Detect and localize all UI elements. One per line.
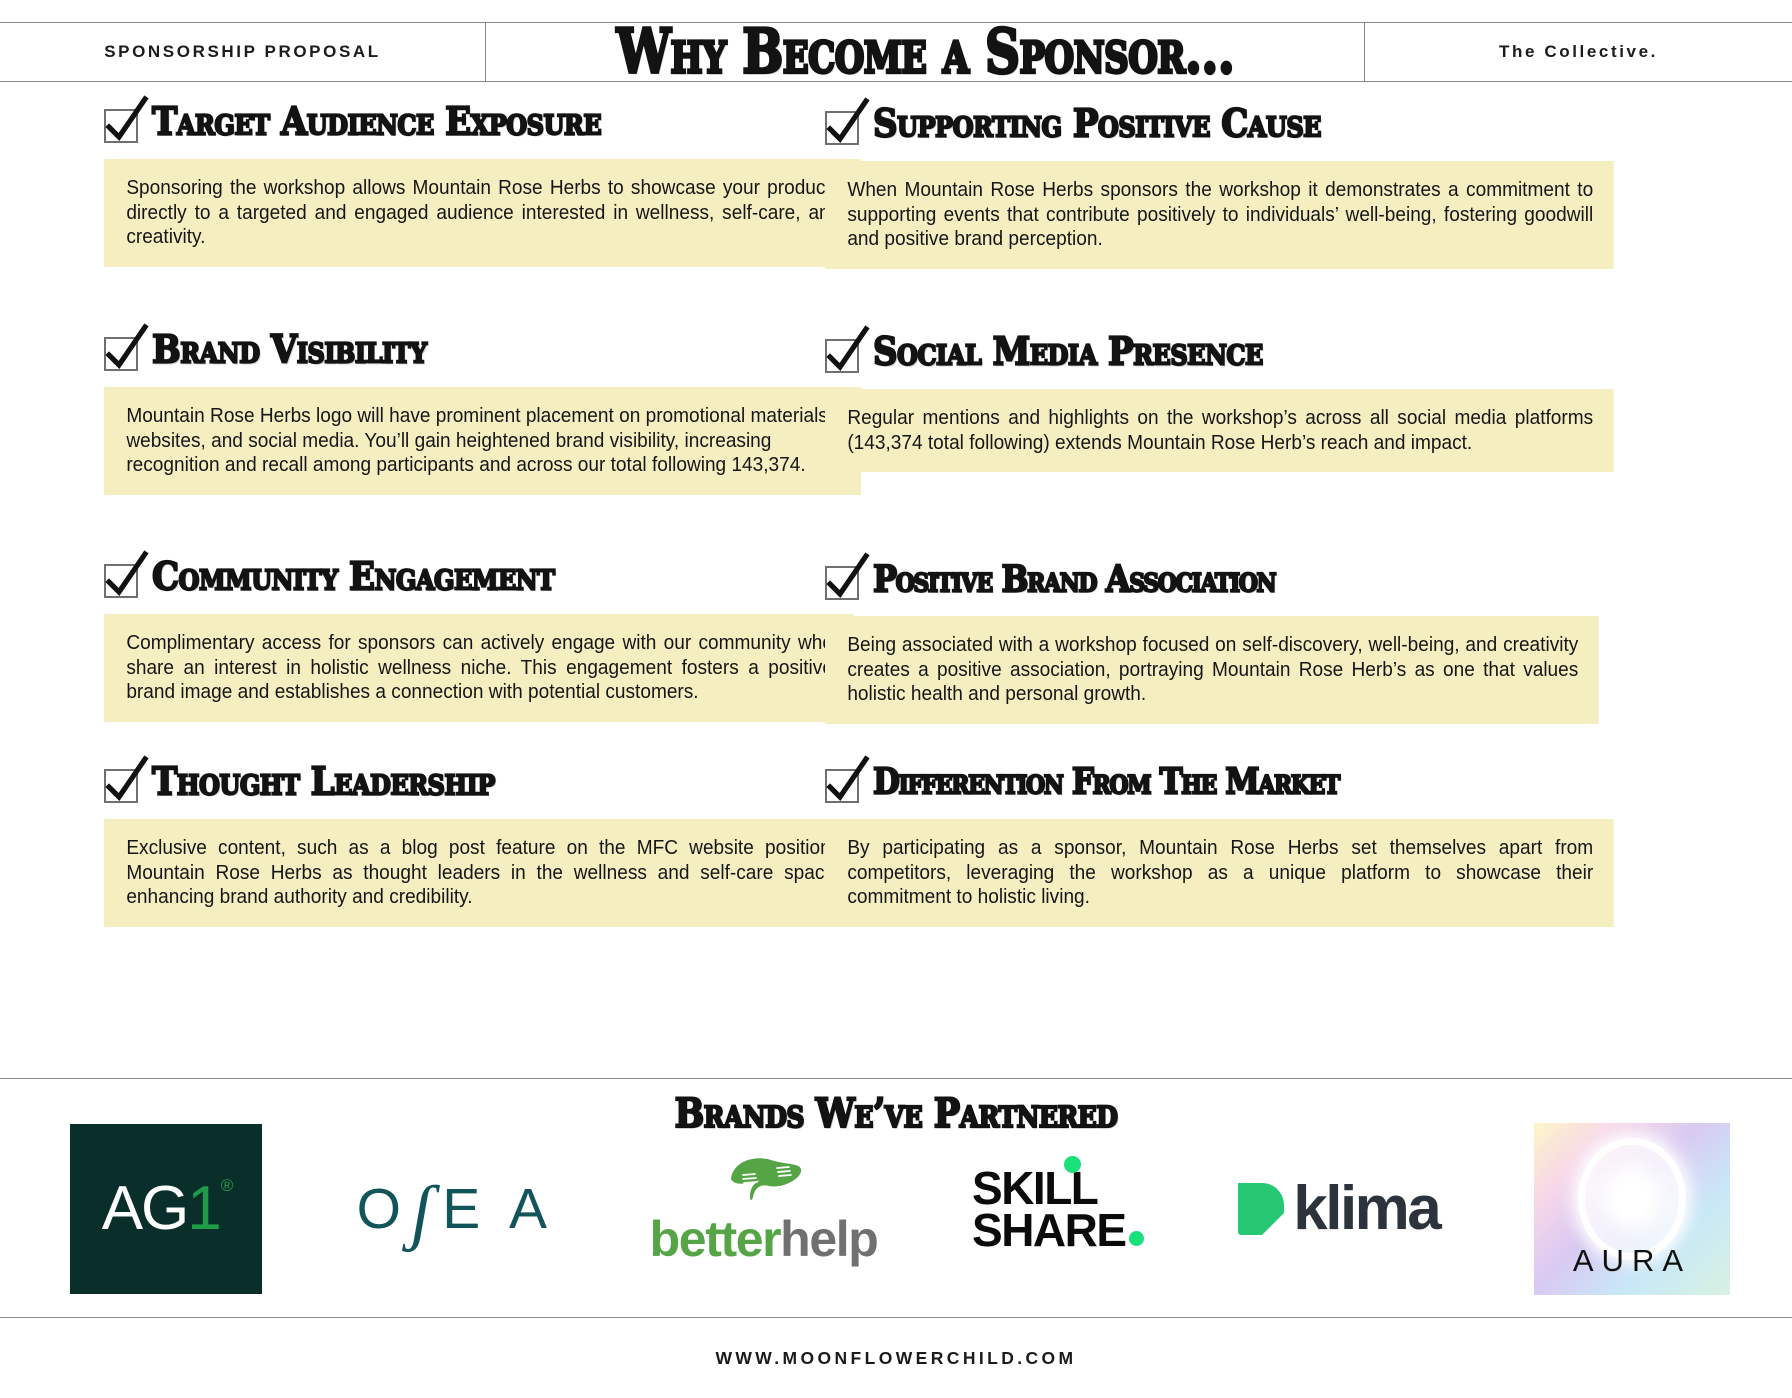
benefit-target-audience-exposure: Target Audience Exposure Sponsoring the … (104, 100, 894, 267)
benefit-supporting-positive-cause: Supporting Positive Cause When Mountain … (825, 102, 1625, 269)
benefit-body: Regular mentions and highlights on the w… (825, 389, 1614, 472)
benefit-positive-brand-association: Positive Brand Association Being associa… (825, 557, 1625, 724)
benefits-grid: Target Audience Exposure Sponsoring the … (0, 100, 1792, 1070)
benefit-title: Differention From The Market (873, 757, 1339, 807)
checkbox-checked-icon[interactable] (825, 339, 859, 373)
betterhelp-wordmark: betterhelp (650, 1214, 878, 1264)
aura-logo-tile: AURA (1534, 1123, 1730, 1295)
ag1-letters: AG (102, 1174, 188, 1243)
website-url[interactable]: WWW.MOONFLOWERCHILD.COM (715, 1348, 1076, 1369)
benefit-heading: Community Engagement (104, 555, 894, 607)
benefit-brand-visibility: Brand Visibility Mountain Rose Herbs log… (104, 328, 894, 495)
benefit-heading: Thought Leadership (104, 760, 894, 812)
checkbox-checked-icon[interactable] (104, 564, 138, 598)
checkbox-checked-icon[interactable] (104, 109, 138, 143)
benefit-heading: Differention From The Market (825, 760, 1625, 812)
benefit-differention-from-the-market: Differention From The Market By particip… (825, 760, 1625, 927)
benefit-title: Target Audience Exposure (152, 97, 601, 147)
skillshare-wordmark: SKILL SHARE (972, 1167, 1144, 1251)
header-left-cell: SPONSORSHIP PROPOSAL (0, 23, 485, 81)
benefit-body: Being associated with a workshop focused… (825, 616, 1599, 724)
benefit-body: Sponsoring the workshop allows Mountain … (104, 159, 861, 267)
partner-logo-row: AG1® OʃE A betterhelp (70, 1111, 1730, 1306)
header-right-cell: The Collective. (1365, 23, 1792, 81)
checkbox-checked-icon[interactable] (825, 111, 859, 145)
betterhelp-hands-icon (721, 1153, 807, 1210)
logo-skillshare: SKILL SHARE (972, 1167, 1144, 1251)
klima-leaf-icon (1238, 1183, 1284, 1235)
logo-osea: OʃE A (357, 1166, 555, 1251)
betterhelp-word-better: better (650, 1211, 781, 1267)
ag1-numeral: 1 (187, 1174, 219, 1243)
document-kind-label: SPONSORSHIP PROPOSAL (104, 42, 381, 62)
skillshare-period-dot-icon (1129, 1231, 1144, 1246)
benefit-heading: Social Media Presence (825, 330, 1625, 382)
partner-brands-section: Brands We’ve Partnered AG1® OʃE A (0, 1078, 1792, 1318)
registered-trademark-icon: ® (221, 1176, 232, 1195)
ag1-wordmark: AG1® (102, 1178, 231, 1240)
benefit-title: Positive Brand Association (873, 554, 1275, 604)
osea-letters-ea: E A (442, 1176, 555, 1242)
benefit-body: When Mountain Rose Herbs sponsors the wo… (825, 161, 1614, 269)
benefit-title: Community Engagement (152, 552, 554, 602)
benefit-body: Mountain Rose Herbs logo will have promi… (104, 387, 861, 495)
skillshare-line-2: SHARE (972, 1204, 1126, 1256)
benefit-heading: Positive Brand Association (825, 557, 1625, 609)
benefit-title: Social Media Presence (873, 327, 1263, 377)
page-footer: WWW.MOONFLOWERCHILD.COM (0, 1318, 1792, 1398)
benefit-title: Brand Visibility (152, 325, 427, 375)
benefit-heading: Supporting Positive Cause (825, 102, 1625, 154)
benefit-body: Complimentary access for sponsors can ac… (104, 614, 853, 722)
aura-wordmark: AURA (1573, 1243, 1691, 1279)
checkbox-checked-icon[interactable] (825, 769, 859, 803)
benefit-body: By participating as a sponsor, Mountain … (825, 819, 1614, 927)
ag1-logo-tile: AG1® (70, 1124, 262, 1294)
osea-wordmark: OʃE A (357, 1166, 555, 1251)
sponsorship-proposal-page: SPONSORSHIP PROPOSAL Why Become a Sponso… (0, 0, 1792, 1398)
benefit-social-media-presence: Social Media Presence Regular mentions a… (825, 330, 1625, 472)
logo-klima: klima (1238, 1178, 1439, 1240)
skillshare-line-1: SKILL (972, 1167, 1144, 1209)
osea-letter-s: ʃ (411, 1170, 440, 1255)
benefit-heading: Brand Visibility (104, 328, 894, 380)
logo-ag1: AG1® (70, 1124, 262, 1294)
benefit-community-engagement: Community Engagement Complimentary acces… (104, 555, 894, 722)
osea-letter-o: O (357, 1176, 409, 1242)
checkbox-checked-icon[interactable] (104, 337, 138, 371)
benefit-body: Exclusive content, such as a blog post f… (104, 819, 861, 927)
checkbox-checked-icon[interactable] (104, 769, 138, 803)
page-title: Why Become a Sponsor... (616, 23, 1234, 81)
logo-aura: AURA (1534, 1123, 1730, 1295)
benefit-thought-leadership: Thought Leadership Exclusive content, su… (104, 760, 894, 927)
aura-ring-icon (1578, 1138, 1686, 1260)
klima-wordmark: klima (1293, 1178, 1439, 1240)
benefit-title: Supporting Positive Cause (873, 99, 1321, 149)
checkbox-checked-icon[interactable] (825, 566, 859, 600)
skillshare-line-2-row: SHARE (972, 1209, 1144, 1251)
logo-betterhelp: betterhelp (650, 1153, 878, 1264)
benefit-heading: Target Audience Exposure (104, 100, 894, 152)
page-header: SPONSORSHIP PROPOSAL Why Become a Sponso… (0, 22, 1792, 82)
skillshare-dot-icon (1064, 1156, 1081, 1173)
header-center-cell: Why Become a Sponsor... (485, 23, 1365, 81)
betterhelp-word-help: help (780, 1211, 877, 1267)
benefit-title: Thought Leadership (152, 757, 495, 807)
brand-name-label: The Collective. (1499, 42, 1658, 62)
